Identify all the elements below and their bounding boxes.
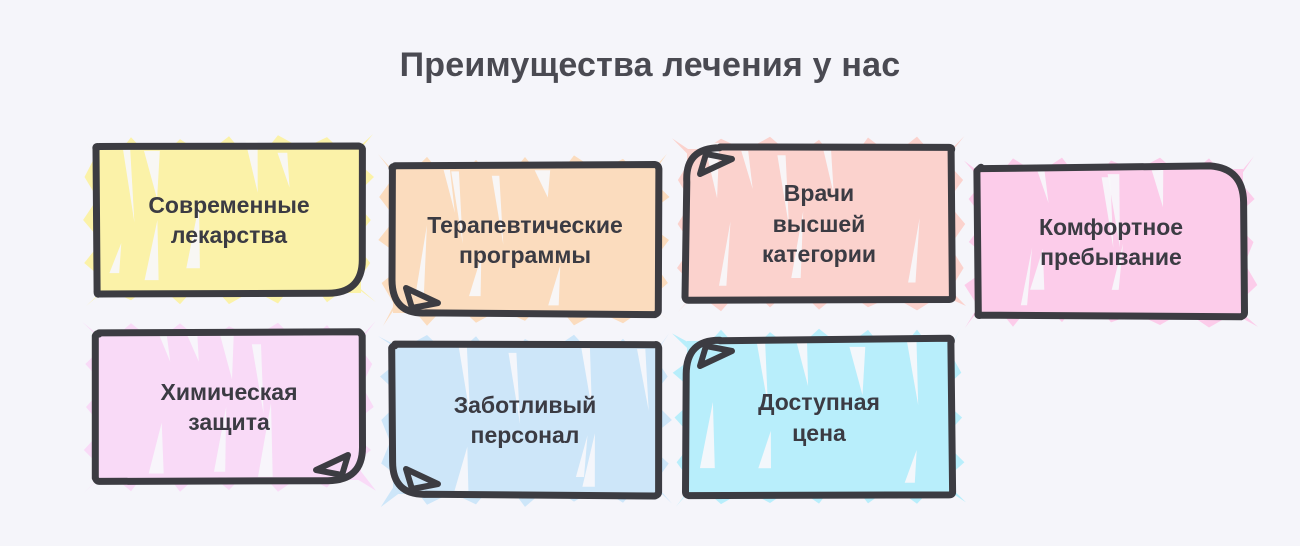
page-title: Преимущества лечения у нас <box>0 46 1300 85</box>
advantage-card-zabotlivyy-personal[interactable]: Заботливый персонал <box>392 345 658 495</box>
advantage-card-terapevticheskie-programmy[interactable]: Терапевтические программы <box>392 166 658 314</box>
card-fill <box>393 167 657 313</box>
advantage-card-dostupnaya-tsena[interactable]: Доступная цена <box>686 340 952 495</box>
card-sketch-frame <box>96 146 362 294</box>
card-sketch-frame <box>392 166 658 314</box>
advantage-card-sovremennye-lekarstva[interactable]: Современные лекарства <box>96 146 362 294</box>
advantages-infographic: Преимущества лечения у нас Современные л… <box>0 0 1300 546</box>
advantage-card-khimicheskaya-zashchita[interactable]: Химическая защита <box>96 333 362 481</box>
card-sketch-frame <box>686 340 952 495</box>
card-sketch-frame <box>96 333 362 481</box>
card-sketch-frame <box>978 168 1244 316</box>
advantage-card-komfortnoe-prebyvanie[interactable]: Комфортное пребывание <box>978 168 1244 316</box>
card-fill <box>97 147 361 293</box>
card-sketch-frame <box>392 345 658 495</box>
advantage-card-vrachi-vysshey-kategorii[interactable]: Врачи высшей категории <box>686 148 952 300</box>
card-fill <box>393 346 657 494</box>
card-sketch-frame <box>686 148 952 300</box>
